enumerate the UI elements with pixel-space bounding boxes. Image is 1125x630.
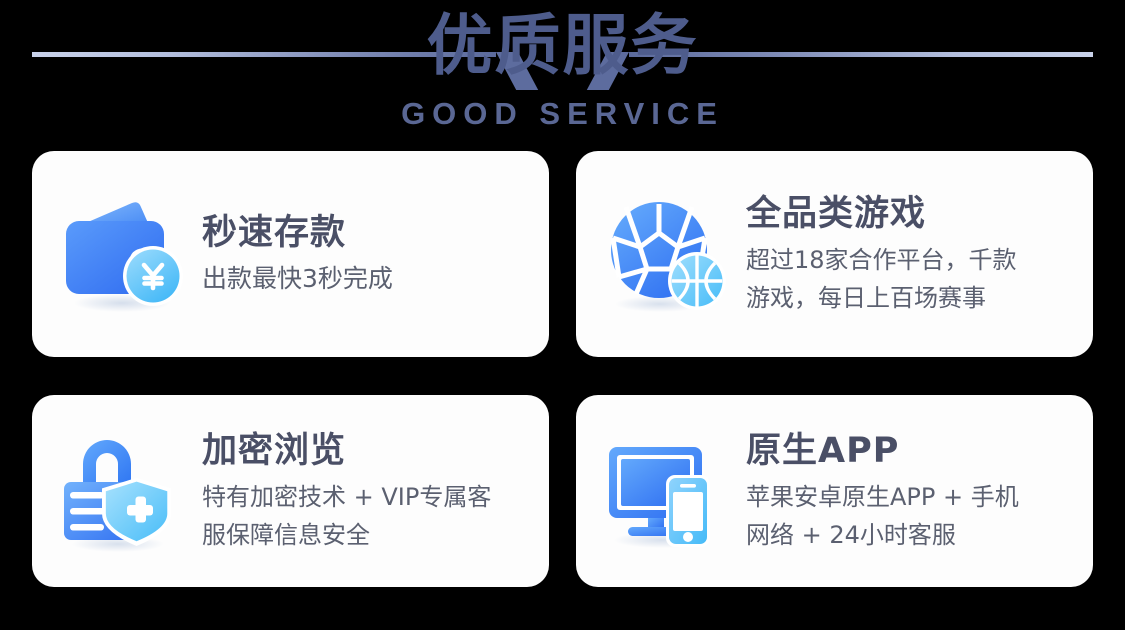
card-title: 秒速存款 bbox=[202, 211, 393, 255]
page-title: 优质服务 bbox=[0, 8, 1125, 84]
monitor-phone-icon bbox=[602, 426, 732, 556]
feature-card-games[interactable]: 全品类游戏 超过18家合作平台，千款 游戏，每日上百场赛事 bbox=[576, 151, 1093, 357]
card-text: 全品类游戏 超过18家合作平台，千款 游戏，每日上百场赛事 bbox=[746, 192, 1029, 317]
card-description-line: 出款最快3秒完成 bbox=[202, 260, 393, 298]
page-subtitle: GOOD SERVICE bbox=[0, 96, 1125, 132]
feature-card-grid: 秒速存款 出款最快3秒完成 bbox=[32, 151, 1093, 587]
card-text: 加密浏览 特有加密技术 + VIP专属客 服保障信息安全 bbox=[202, 429, 503, 554]
card-description: 超过18家合作平台，千款 游戏，每日上百场赛事 bbox=[746, 241, 1017, 317]
card-description-line: 苹果安卓原生APP + 手机 bbox=[746, 478, 1019, 516]
card-description: 苹果安卓原生APP + 手机 网络 + 24小时客服 bbox=[746, 478, 1019, 554]
card-description-line: 超过18家合作平台，千款 bbox=[746, 241, 1017, 279]
card-text: 秒速存款 出款最快3秒完成 bbox=[202, 211, 405, 298]
card-description: 出款最快3秒完成 bbox=[202, 260, 393, 298]
card-description-line: 服保障信息安全 bbox=[202, 516, 491, 554]
card-text: 原生APP 苹果安卓原生APP + 手机 网络 + 24小时客服 bbox=[746, 429, 1031, 554]
promo-banner: 优质服务 GOOD SERVICE bbox=[0, 0, 1125, 630]
feature-card-deposit[interactable]: 秒速存款 出款最快3秒完成 bbox=[32, 151, 549, 357]
wallet-icon bbox=[58, 189, 188, 319]
card-description-line: 网络 + 24小时客服 bbox=[746, 516, 1019, 554]
feature-card-native-app[interactable]: 原生APP 苹果安卓原生APP + 手机 网络 + 24小时客服 bbox=[576, 395, 1093, 587]
card-description-line: 游戏，每日上百场赛事 bbox=[746, 279, 1017, 317]
card-description-line: 特有加密技术 + VIP专属客 bbox=[202, 478, 491, 516]
feature-card-encryption[interactable]: 加密浏览 特有加密技术 + VIP专属客 服保障信息安全 bbox=[32, 395, 549, 587]
card-title: 加密浏览 bbox=[202, 429, 491, 473]
card-title: 全品类游戏 bbox=[746, 192, 1017, 236]
card-title: 原生APP bbox=[746, 429, 1019, 473]
card-description: 特有加密技术 + VIP专属客 服保障信息安全 bbox=[202, 478, 491, 554]
page-header: 优质服务 GOOD SERVICE bbox=[0, 0, 1125, 148]
soccer-ball-icon bbox=[602, 189, 732, 319]
lock-shield-icon bbox=[58, 426, 188, 556]
